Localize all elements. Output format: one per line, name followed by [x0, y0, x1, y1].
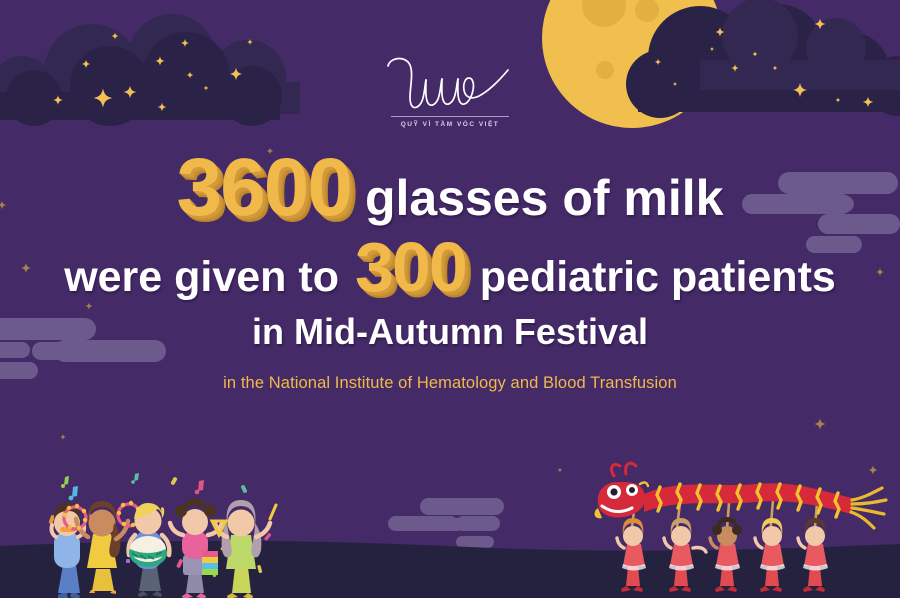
dragon-dancer-5 [798, 518, 828, 592]
child-4-maracas [170, 499, 222, 598]
dragon-dancer-1 [617, 518, 646, 592]
stat-patients-count: 300 [355, 235, 466, 299]
dragon-head [595, 463, 648, 518]
child-1-harmonica [52, 503, 85, 598]
headline-line-2: were given to 300 pediatric patients [14, 235, 886, 299]
children-band-illustration [26, 473, 302, 598]
event-name: in Mid-Autumn Festival [252, 311, 648, 352]
logo-divider [391, 116, 509, 117]
stat-glasses-count: 3600 [177, 150, 351, 225]
dragon-dancer-3 [710, 517, 742, 592]
venue-subtitle: in the National Institute of Hematology … [14, 374, 886, 393]
headline-block: 3600 glasses of milk were given to 300 p… [0, 150, 900, 393]
dragon-dancers [617, 517, 828, 592]
logo-tagline: QUỸ VÌ TẦM VÓC VIỆT [0, 121, 900, 128]
dragon-dancer-4 [755, 518, 785, 592]
child-3-drum [129, 503, 170, 597]
logo-script-mark [380, 52, 520, 114]
brand-logo: QUỸ VÌ TẦM VÓC VIỆT [0, 52, 900, 128]
headline-line-1: 3600 glasses of milk [14, 150, 886, 225]
poster-canvas: QUỸ VÌ TẦM VÓC VIỆT 3600 glasses of milk… [0, 0, 900, 598]
headline-prefix: were given to [64, 256, 339, 299]
dragon-dancer-2 [664, 518, 706, 592]
dragon-dance-illustration [590, 458, 890, 598]
headline-line-3: in Mid-Autumn Festival [14, 314, 886, 350]
stat-patients-label: pediatric patients [480, 256, 836, 299]
stat-glasses-label: glasses of milk [365, 173, 724, 223]
